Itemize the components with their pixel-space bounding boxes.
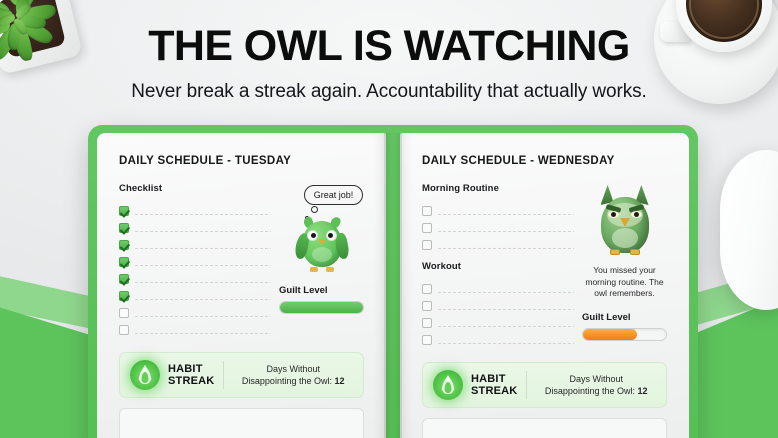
writing-line bbox=[438, 231, 574, 232]
checklist-item[interactable] bbox=[422, 297, 574, 314]
writing-line bbox=[135, 282, 271, 283]
next-entry-card[interactable] bbox=[119, 408, 364, 438]
checkbox-unchecked-icon[interactable] bbox=[422, 223, 432, 233]
checklist-item[interactable] bbox=[422, 314, 574, 331]
checkbox-unchecked-icon[interactable] bbox=[422, 318, 432, 328]
checkbox-checked-icon[interactable] bbox=[119, 206, 129, 216]
section-label-checklist: Checklist bbox=[119, 183, 271, 194]
flame-icon bbox=[130, 360, 160, 390]
habit-streak-card-right[interactable]: HABIT STREAK Days Without Disappointing … bbox=[422, 362, 667, 408]
writing-line bbox=[135, 299, 271, 300]
thought-bubble: Great job! bbox=[304, 185, 364, 205]
right-page-owl-column: You missed your morning routine. The owl… bbox=[582, 183, 667, 348]
checkbox-unchecked-icon[interactable] bbox=[422, 301, 432, 311]
writing-line bbox=[438, 326, 574, 327]
guilt-level-track[interactable] bbox=[582, 328, 667, 341]
habit-streak-title-line2: STREAK bbox=[168, 375, 214, 387]
checklist-item[interactable] bbox=[119, 236, 271, 253]
habit-streak-title: HABIT STREAK bbox=[471, 373, 517, 398]
owl-chest bbox=[612, 228, 638, 248]
writing-line bbox=[135, 333, 271, 334]
writing-line bbox=[438, 343, 574, 344]
owl-eye bbox=[631, 211, 642, 218]
thought-bubble-dot bbox=[311, 206, 318, 213]
stern-owl-block: You missed your morning routine. The owl… bbox=[582, 183, 667, 300]
writing-line bbox=[438, 309, 574, 310]
habit-streak-meta-line1: Days Without bbox=[266, 364, 320, 374]
owl-belly bbox=[312, 247, 332, 262]
owl-reminder-text: You missed your morning routine. The owl… bbox=[582, 265, 667, 300]
thought-bubble-text: Great job! bbox=[314, 190, 354, 200]
stern-owl-icon bbox=[594, 185, 656, 259]
guilt-level-label: Guilt Level bbox=[279, 285, 364, 296]
writing-line bbox=[438, 292, 574, 293]
checkbox-unchecked-icon[interactable] bbox=[422, 335, 432, 345]
owl-beak bbox=[318, 239, 326, 245]
checkbox-unchecked-icon[interactable] bbox=[422, 206, 432, 216]
flame-icon bbox=[433, 370, 463, 400]
habit-streak-days: 12 bbox=[335, 376, 345, 386]
checklist-item[interactable] bbox=[119, 304, 271, 321]
owl-foot bbox=[326, 267, 334, 272]
happy-owl-block: Great job! bbox=[279, 183, 364, 273]
checkbox-checked-icon[interactable] bbox=[119, 257, 129, 267]
notebook-right-page: DAILY SCHEDULE - WEDNESDAY Morning Routi… bbox=[400, 133, 689, 438]
owl-pupil bbox=[311, 233, 316, 238]
writing-line bbox=[135, 248, 271, 249]
section-label-morning-routine: Morning Routine bbox=[422, 183, 574, 194]
habit-streak-meta: Days Without Disappointing the Owl: 12 bbox=[233, 363, 353, 387]
page-title: THE OWL IS WATCHING bbox=[0, 22, 778, 71]
guilt-level-fill bbox=[280, 302, 363, 313]
checklist-item[interactable] bbox=[422, 280, 574, 297]
notebook: DAILY SCHEDULE - TUESDAY Checklist bbox=[88, 125, 698, 438]
checkbox-unchecked-icon[interactable] bbox=[119, 308, 129, 318]
left-page-owl-column: Great job! bbox=[279, 183, 364, 338]
left-page-checklist-column: Checklist bbox=[119, 183, 271, 338]
checkbox-unchecked-icon[interactable] bbox=[422, 284, 432, 294]
habit-streak-meta-line2: Disappointing the Owl: bbox=[242, 376, 332, 386]
habit-streak-meta-line2: Disappointing the Owl: bbox=[545, 386, 635, 396]
checklist-item[interactable] bbox=[119, 287, 271, 304]
habit-streak-meta: Days Without Disappointing the Owl: 12 bbox=[536, 373, 656, 397]
checkbox-checked-icon[interactable] bbox=[119, 223, 129, 233]
checkbox-checked-icon[interactable] bbox=[119, 291, 129, 301]
checklist-item[interactable] bbox=[119, 202, 271, 219]
checklist-item[interactable] bbox=[422, 236, 574, 253]
checkbox-checked-icon[interactable] bbox=[119, 274, 129, 284]
checklist-item[interactable] bbox=[422, 331, 574, 348]
divider bbox=[223, 361, 224, 389]
right-page-title: DAILY SCHEDULE - WEDNESDAY bbox=[422, 155, 667, 167]
writing-line bbox=[438, 214, 574, 215]
next-entry-card[interactable] bbox=[422, 418, 667, 438]
checklist-item[interactable] bbox=[422, 202, 574, 219]
writing-line bbox=[135, 214, 271, 215]
owl-foot bbox=[310, 267, 318, 272]
owl-beak bbox=[620, 218, 630, 227]
habit-streak-days: 12 bbox=[638, 386, 648, 396]
computer-mouse-icon bbox=[720, 150, 778, 310]
notebook-left-page: DAILY SCHEDULE - TUESDAY Checklist bbox=[97, 133, 386, 438]
checklist-item[interactable] bbox=[119, 270, 271, 287]
writing-line bbox=[135, 265, 271, 266]
checkbox-unchecked-icon[interactable] bbox=[119, 325, 129, 335]
page-subtitle: Never break a streak again. Accountabili… bbox=[0, 81, 778, 103]
guilt-level-left: Guilt Level bbox=[279, 285, 364, 314]
checklist-item[interactable] bbox=[119, 253, 271, 270]
owl-pupil bbox=[328, 233, 333, 238]
habit-streak-card-left[interactable]: HABIT STREAK Days Without Disappointing … bbox=[119, 352, 364, 398]
writing-line bbox=[438, 248, 574, 249]
happy-owl-icon bbox=[296, 215, 348, 273]
habit-streak-title: HABIT STREAK bbox=[168, 363, 214, 388]
habit-streak-title-line2: STREAK bbox=[471, 385, 517, 397]
habit-streak-meta-line1: Days Without bbox=[569, 374, 623, 384]
guilt-level-right: Guilt Level bbox=[582, 312, 667, 341]
owl-foot bbox=[630, 249, 640, 255]
habit-streak-title-line1: HABIT bbox=[168, 363, 203, 375]
guilt-level-fill bbox=[583, 329, 637, 340]
checkbox-checked-icon[interactable] bbox=[119, 240, 129, 250]
checklist-item[interactable] bbox=[422, 219, 574, 236]
right-page-checklist-column: Morning Routine Workout bbox=[422, 183, 574, 348]
writing-line bbox=[135, 231, 271, 232]
checklist-item[interactable] bbox=[119, 219, 271, 236]
owl-eye bbox=[608, 211, 619, 218]
guilt-level-label: Guilt Level bbox=[582, 312, 667, 323]
habit-streak-title-line1: HABIT bbox=[471, 373, 506, 385]
guilt-level-track[interactable] bbox=[279, 301, 364, 314]
checkbox-unchecked-icon[interactable] bbox=[422, 240, 432, 250]
promo-graphic: THE OWL IS WATCHING Never break a streak… bbox=[0, 0, 778, 438]
checklist-item[interactable] bbox=[119, 321, 271, 338]
owl-foot bbox=[610, 249, 620, 255]
divider bbox=[526, 371, 527, 399]
section-label-workout: Workout bbox=[422, 261, 574, 272]
writing-line bbox=[135, 316, 271, 317]
left-page-title: DAILY SCHEDULE - TUESDAY bbox=[119, 155, 364, 167]
